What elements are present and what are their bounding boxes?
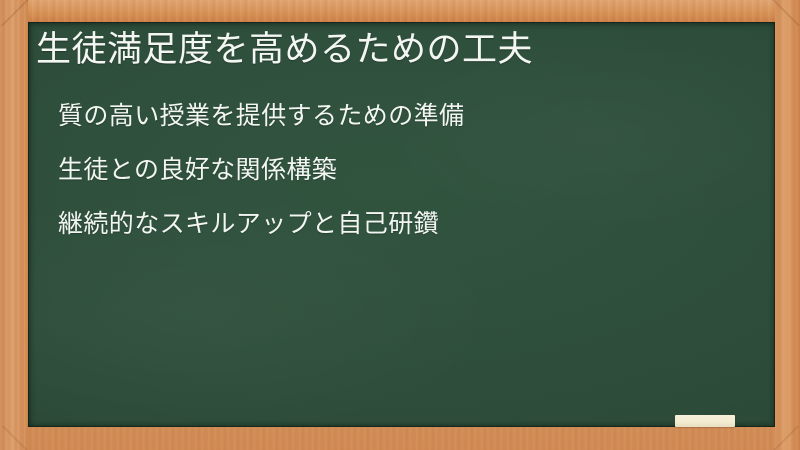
frame-corner-bottom-right	[772, 426, 800, 450]
frame-corner-bottom-left	[0, 426, 30, 450]
slide-title: 生徒満足度を高めるための工夫	[36, 28, 766, 72]
bullet-item-1: 質の高い授業を提供するための準備	[58, 104, 748, 129]
frame-corner-top-right	[772, 0, 800, 26]
bullet-list: 質の高い授業を提供するための準備 生徒との良好な関係構築 継続的なスキルアップと…	[58, 104, 748, 237]
frame-top-rail	[0, 0, 800, 22]
chalkboard-surface: 生徒満足度を高めるための工夫 質の高い授業を提供するための準備 生徒との良好な関…	[28, 22, 775, 427]
slide-content: 生徒満足度を高めるための工夫 質の高い授業を提供するための準備 生徒との良好な関…	[28, 22, 775, 427]
blackboard-wooden-frame: 生徒満足度を高めるための工夫 質の高い授業を提供するための準備 生徒との良好な関…	[0, 0, 800, 450]
bullet-item-2: 生徒との良好な関係構築	[58, 158, 748, 183]
chalk-stick	[675, 415, 735, 427]
frame-left-rail	[0, 0, 28, 450]
bullet-item-3: 継続的なスキルアップと自己研鑽	[58, 212, 748, 237]
frame-right-rail	[775, 0, 800, 450]
frame-corner-top-left	[0, 0, 30, 26]
